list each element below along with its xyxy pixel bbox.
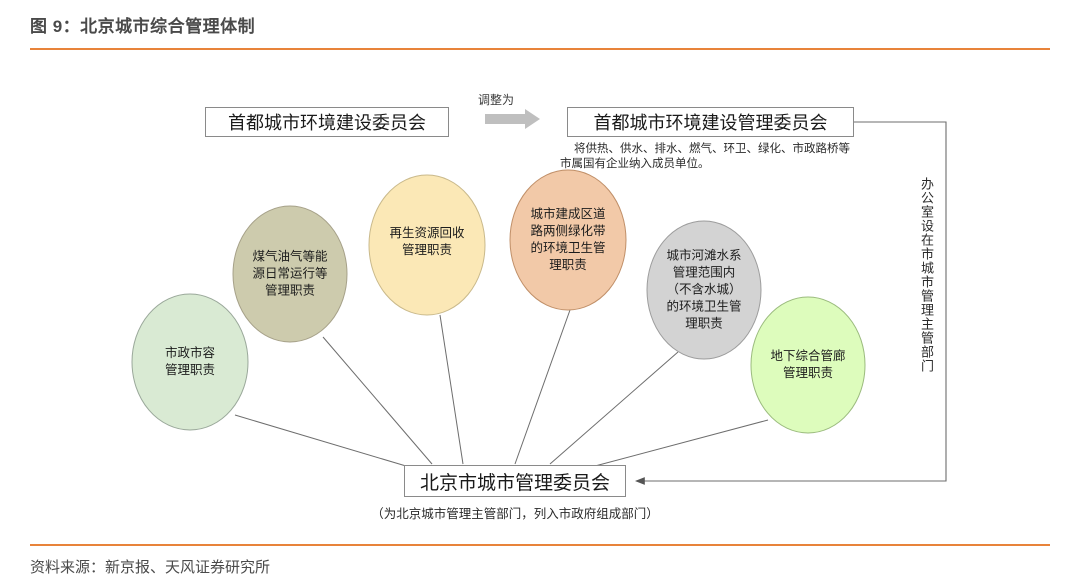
footer-divider: [30, 544, 1050, 546]
figure-page: 图 9：北京城市综合管理体制: [0, 0, 1080, 586]
bubble-label-municipal-appearance: 市政市容 管理职责: [165, 345, 215, 379]
bottom-committee-note: （为北京城市管理主管部门，列入市政府组成部门）: [355, 503, 675, 522]
transition-label: 调整为: [478, 91, 514, 108]
responsibility-bubbles: [132, 170, 865, 433]
figure-title: 图 9：北京城市综合管理体制: [30, 12, 255, 37]
header-divider: [30, 48, 1050, 50]
diagram-canvas: 市政市容 管理职责 煤气油气等能 源日常运行等 管理职责 再生资源回收 管理职责…: [0, 52, 1080, 544]
new-committee-box[interactable]: 首都城市环境建设管理委员会: [567, 107, 854, 137]
bubble-label-river-water-system-sanitation: 城市河滩水系 管理范围内 （不含水城） 的环境卫生管 理职责: [666, 248, 741, 333]
figure-header: 图 9：北京城市综合管理体制: [0, 0, 1080, 52]
bottom-committee-box[interactable]: 北京市城市管理委员会: [404, 465, 626, 497]
old-committee-box[interactable]: 首都城市环境建设委员会: [205, 107, 449, 137]
bubble-label-underground-utility-tunnel: 地下综合管廊 管理职责: [770, 348, 845, 382]
bubble-label-urban-road-greenbelt-sanitation: 城市建成区道 路两侧绿化带 的环境卫生管 理职责: [530, 206, 605, 274]
bubble-label-renewable-resource-recycling: 再生资源回收 管理职责: [389, 225, 464, 259]
office-location-note: 办公室设在市城市管理主管部门: [915, 177, 935, 373]
transition-arrow-icon: [485, 109, 540, 129]
source-text: 资料来源：新京报、天风证券研究所: [30, 556, 270, 577]
bubble-label-gas-and-oil-energy: 煤气油气等能 源日常运行等 管理职责: [252, 249, 327, 300]
new-committee-note: 将供热、供水、排水、燃气、环卫、绿化、市政路桥等市属国有企业纳入成员单位。: [560, 142, 860, 172]
